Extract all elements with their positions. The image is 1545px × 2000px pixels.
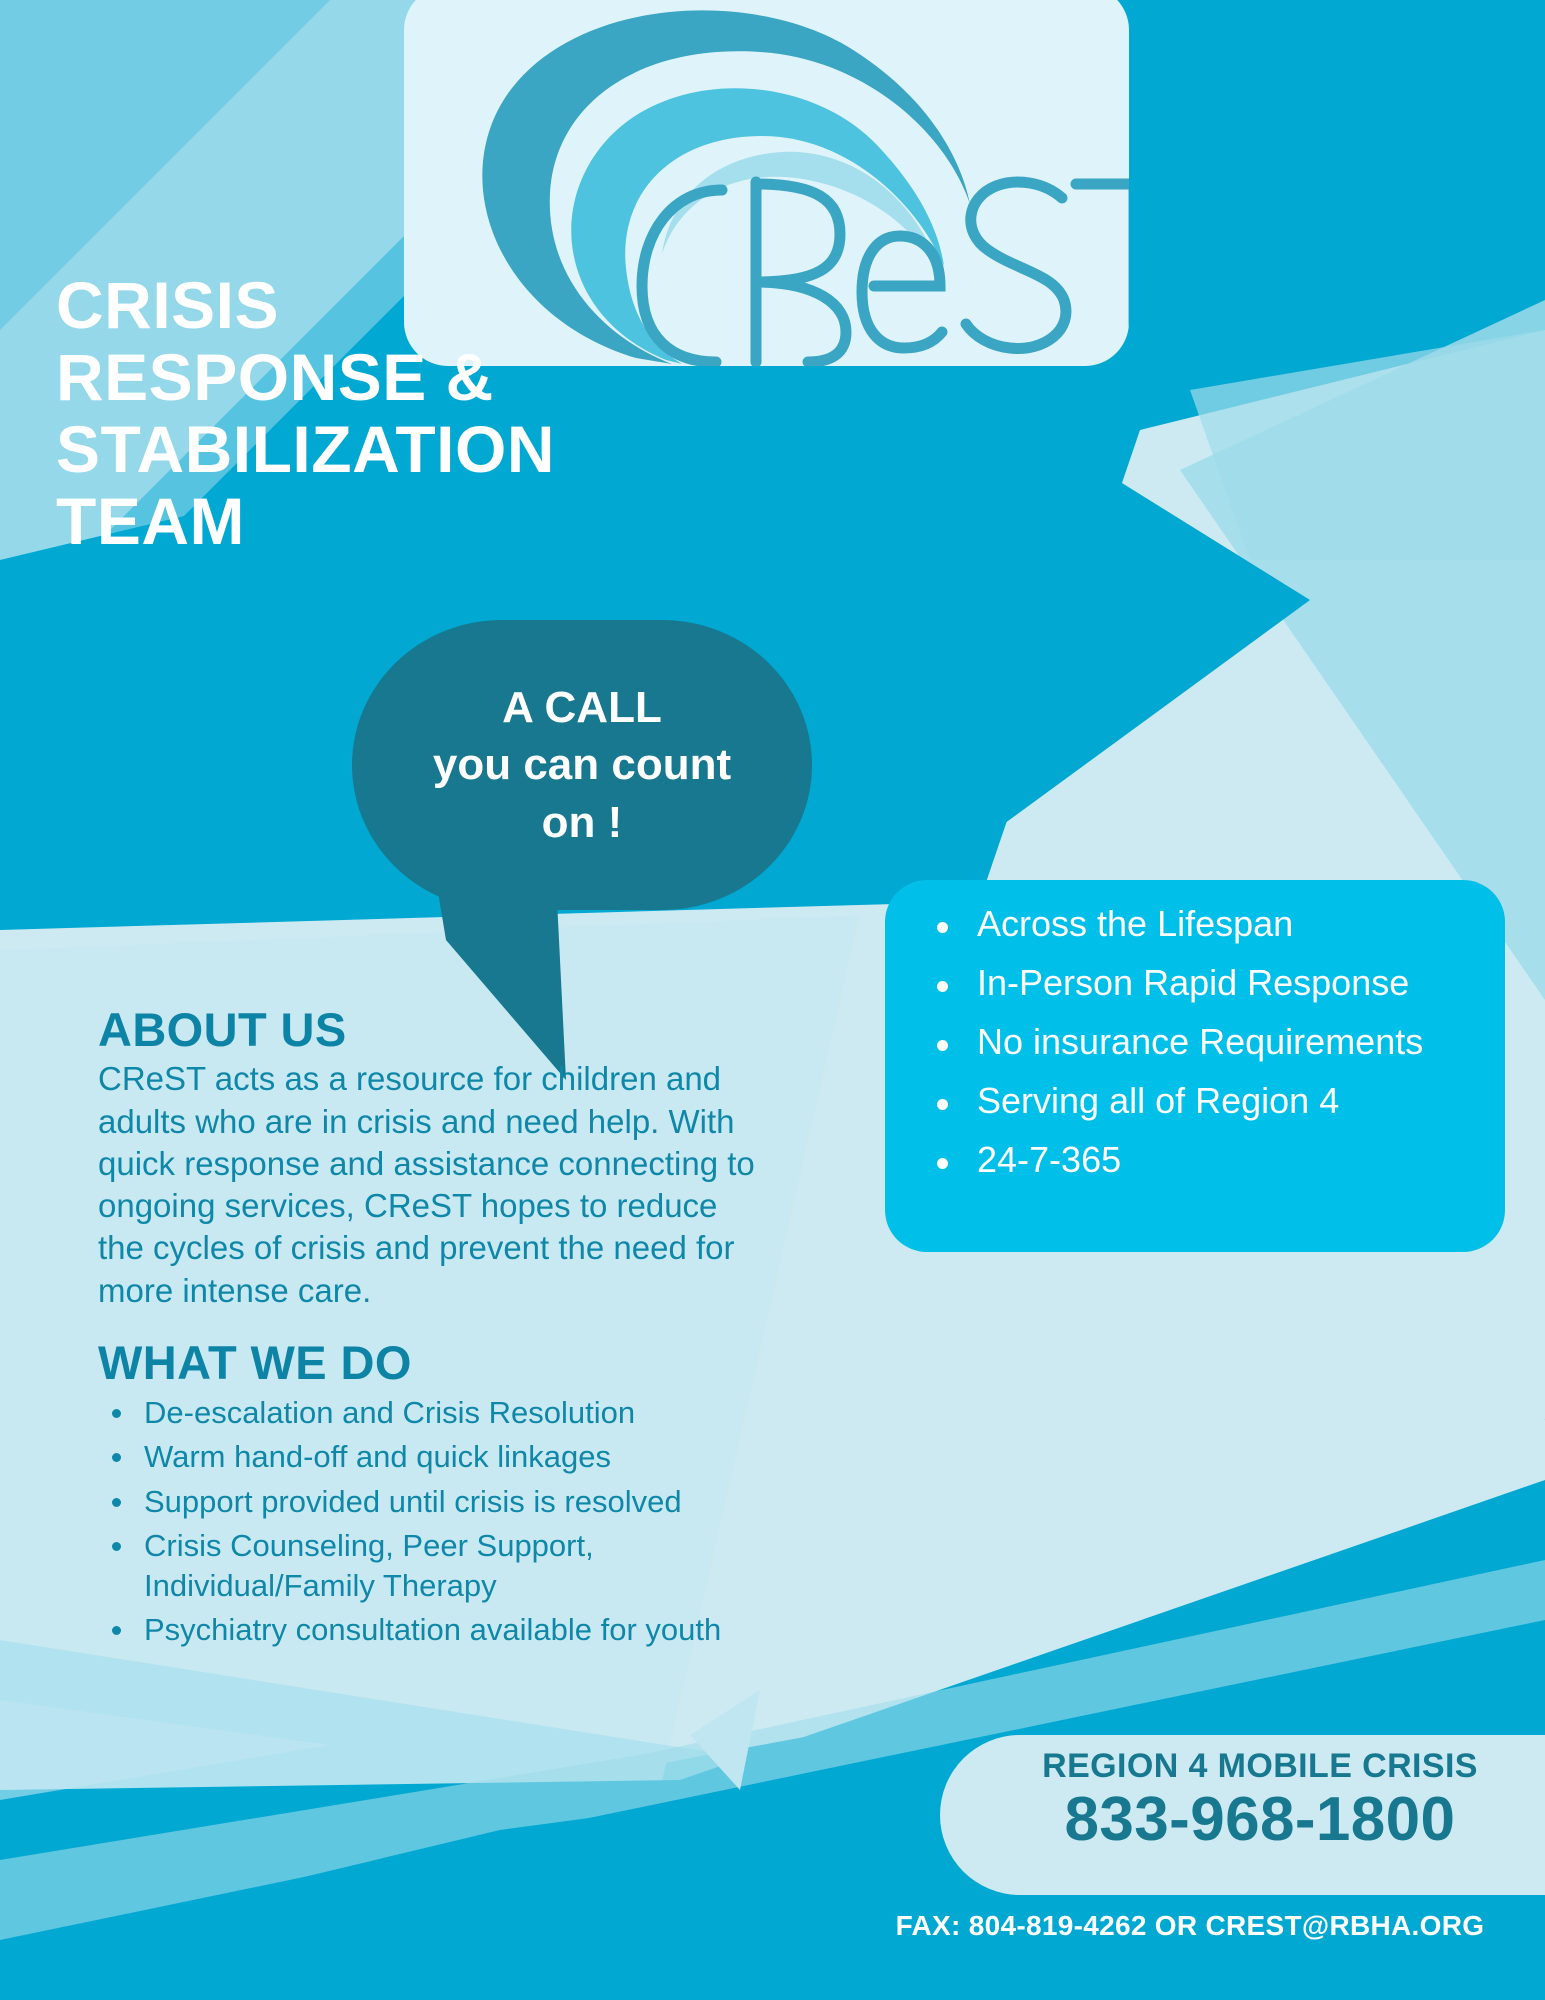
about-us-body: CReST acts as a resource for children an… [98, 1058, 770, 1311]
features-box: Across the Lifespan In-Person Rapid Resp… [885, 880, 1505, 1252]
what-we-do-heading: WHAT WE DO [98, 1338, 778, 1387]
list-item: Psychiatry consultation available for yo… [98, 1610, 778, 1649]
about-column: ABOUT US CReST acts as a resource for ch… [98, 1005, 778, 1654]
bubble-line-3: on ! [382, 794, 782, 851]
speech-bubble-text: A CALL you can count on ! [382, 679, 782, 851]
list-item: 24-7-365 [885, 1142, 1487, 1178]
list-item: Crisis Counseling, Peer Support, Individ… [98, 1526, 778, 1605]
list-item: Serving all of Region 4 [885, 1083, 1487, 1119]
bubble-line-1: A CALL [382, 679, 782, 736]
page-title: CRISIS RESPONSE & STABILIZATION TEAM [56, 270, 696, 558]
list-item: In-Person Rapid Response [885, 965, 1487, 1001]
features-list: Across the Lifespan In-Person Rapid Resp… [885, 906, 1487, 1178]
contact-phone-number[interactable]: 833-968-1800 [940, 1785, 1545, 1854]
title-line-1: CRISIS [56, 270, 696, 342]
contact-fax-email-line[interactable]: FAX: 804-819-4262 OR CREST@RBHA.ORG [860, 1910, 1520, 1942]
bubble-line-2: you can count [382, 736, 782, 793]
list-item: De-escalation and Crisis Resolution [98, 1393, 778, 1432]
speech-bubble: A CALL you can count on ! [352, 620, 812, 910]
what-we-do-list: De-escalation and Crisis Resolution Warm… [98, 1393, 778, 1649]
list-item: No insurance Requirements [885, 1024, 1487, 1060]
flyer-root: CRISIS RESPONSE & STABILIZATION TEAM A C… [0, 0, 1545, 2000]
about-us-heading: ABOUT US [98, 1005, 778, 1054]
list-item: Across the Lifespan [885, 906, 1487, 942]
title-line-2: RESPONSE & [56, 342, 696, 414]
list-item: Warm hand-off and quick linkages [98, 1437, 778, 1476]
list-item: Support provided until crisis is resolve… [98, 1482, 778, 1521]
contact-label: REGION 4 MOBILE CRISIS [940, 1749, 1545, 1785]
contact-pill: REGION 4 MOBILE CRISIS 833-968-1800 [940, 1735, 1545, 1895]
title-line-4: TEAM [56, 486, 696, 558]
title-line-3: STABILIZATION [56, 414, 696, 486]
